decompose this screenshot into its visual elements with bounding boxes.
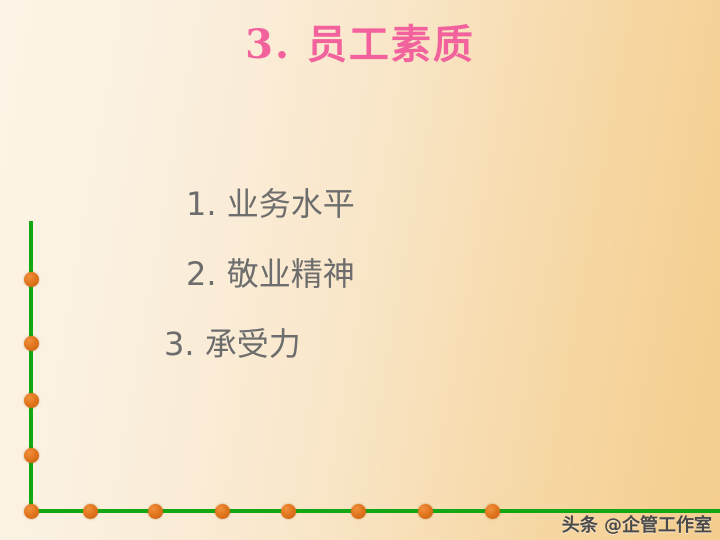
axis-dot <box>24 336 39 351</box>
axis-dot <box>418 504 433 519</box>
axis-dot <box>83 504 98 519</box>
axis-dot <box>215 504 230 519</box>
axis-dot <box>148 504 163 519</box>
axis-dot <box>351 504 366 519</box>
axis-dot <box>24 393 39 408</box>
axis-dot <box>24 448 39 463</box>
vertical-axis-line <box>29 221 33 513</box>
axis-dot <box>281 504 296 519</box>
slide-canvas: 3. 员工素质 1. 业务水平 2. 敬业精神 3. 承受力 头条 @企管工作室 <box>0 0 720 540</box>
page-title: 3. 员工素质 <box>0 22 720 68</box>
axis-dot <box>24 504 39 519</box>
axis-dot <box>485 504 500 519</box>
axis-dot <box>24 272 39 287</box>
list-item: 3. 承受力 <box>164 328 301 360</box>
list-item: 2. 敬业精神 <box>186 258 355 290</box>
watermark-label: 头条 @企管工作室 <box>562 511 712 537</box>
list-item: 1. 业务水平 <box>186 188 355 220</box>
